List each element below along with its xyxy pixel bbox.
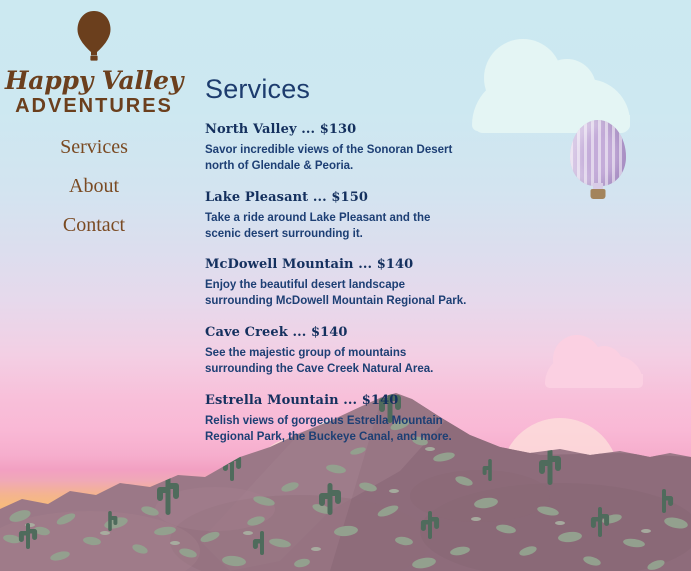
service-description: See the majestic group of mountains surr… [205,346,467,378]
nav-item-contact[interactable]: Contact [0,206,188,245]
service-heading: Estrella Mountain ... $140 [205,393,535,408]
service-description: Enjoy the beautiful desert landscape sur… [205,278,467,310]
service-heading: Lake Pleasant ... $150 [205,190,535,205]
brand-name-script: Happy Valley [0,68,188,94]
service-heading: McDowell Mountain ... $140 [205,257,535,272]
page-title: Services [205,74,535,105]
service-item: North Valley ... $130 Savor incredible v… [205,122,535,175]
brand-name-subtitle: ADVENTURES [0,95,188,118]
service-item: Estrella Mountain ... $140 Relish views … [205,393,535,446]
service-heading: North Valley ... $130 [205,122,535,137]
service-item: Lake Pleasant ... $150 Take a ride aroun… [205,190,535,243]
service-description: Relish views of gorgeous Estrella Mounta… [205,414,467,446]
nav-item-about[interactable]: About [0,167,188,206]
content-layer: Happy Valley ADVENTURES Services About C… [0,0,691,571]
service-heading: Cave Creek ... $140 [205,325,535,340]
brand-logo[interactable]: Happy Valley ADVENTURES [0,10,188,118]
service-description: Take a ride around Lake Pleasant and the… [205,211,467,243]
hot-air-balloon-icon [74,10,114,62]
service-item: Cave Creek ... $140 See the majestic gro… [205,325,535,378]
main-navigation: Services About Contact [0,128,188,245]
page-root: Happy Valley ADVENTURES Services About C… [0,0,691,571]
service-item: McDowell Mountain ... $140 Enjoy the bea… [205,257,535,310]
service-description: Savor incredible views of the Sonoran De… [205,143,467,175]
main-content: Services North Valley ... $130 Savor inc… [205,74,535,461]
nav-item-services[interactable]: Services [0,128,188,167]
